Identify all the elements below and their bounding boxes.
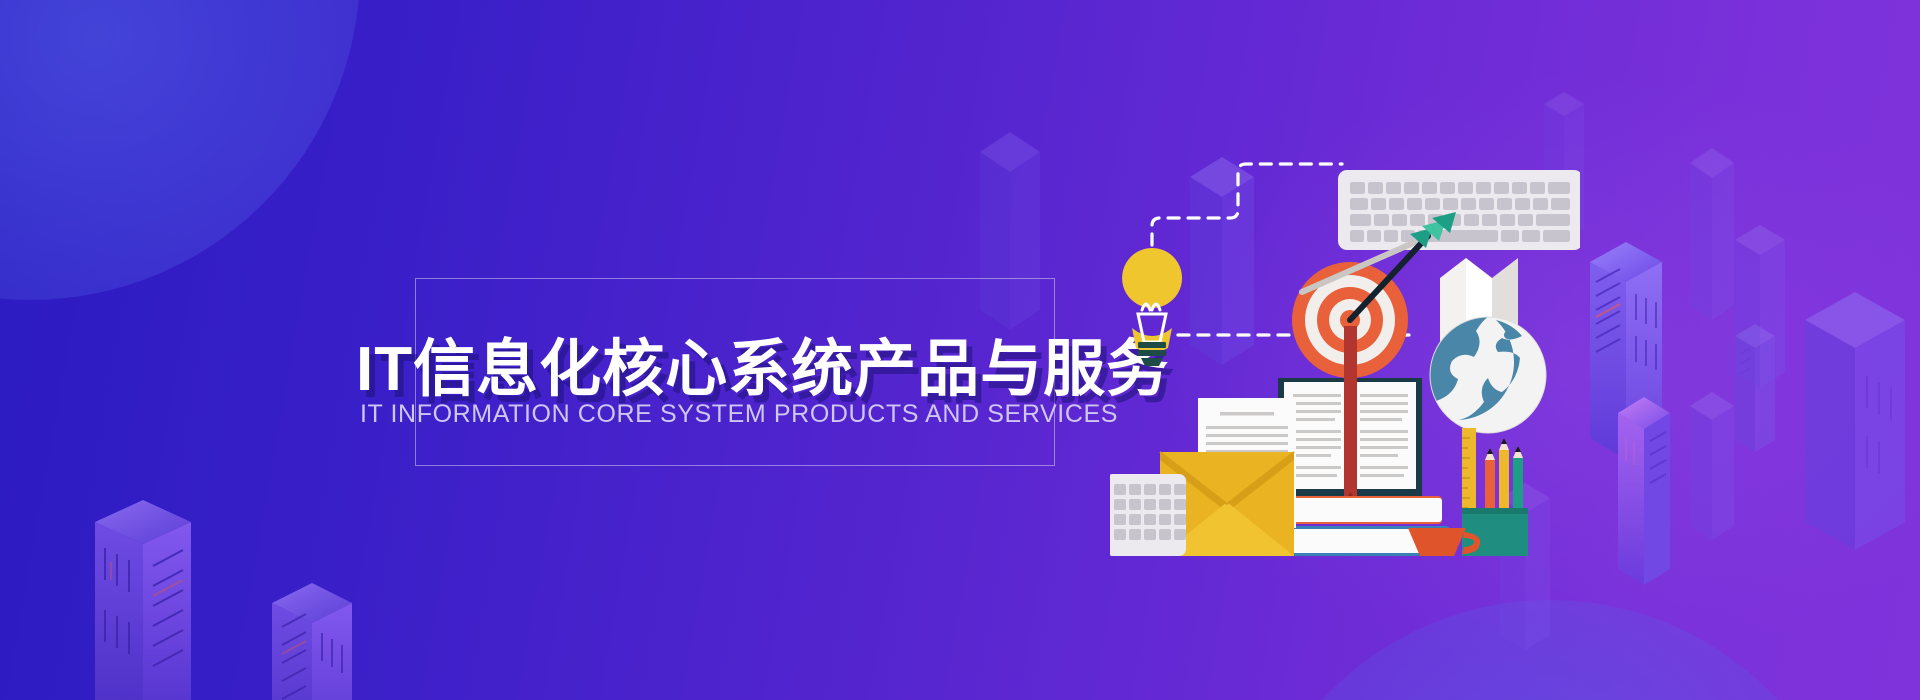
lightbulb-icon: [1122, 248, 1182, 366]
hero-illustration: [1110, 130, 1580, 570]
isometric-building-left-short: [272, 583, 437, 700]
globe-icon: [1430, 317, 1546, 433]
isometric-building-left-tall: [95, 500, 295, 700]
hero-banner: IT信息化核心系统产品与服务 IT INFORMATION CORE SYSTE…: [0, 0, 1920, 700]
open-book-icon: [1278, 326, 1422, 502]
keyboard-bottom-icon: [1110, 474, 1186, 556]
background-blob-top-left: [0, 0, 360, 300]
keyboard-top-icon: [1338, 170, 1580, 250]
page-title: IT信息化核心系统产品与服务: [356, 318, 1169, 408]
page-subtitle: IT INFORMATION CORE SYSTEM PRODUCTS AND …: [360, 400, 1118, 429]
isometric-building-right-mid: [1735, 222, 1825, 387]
isometric-building-right-small-2: [1690, 390, 1770, 540]
